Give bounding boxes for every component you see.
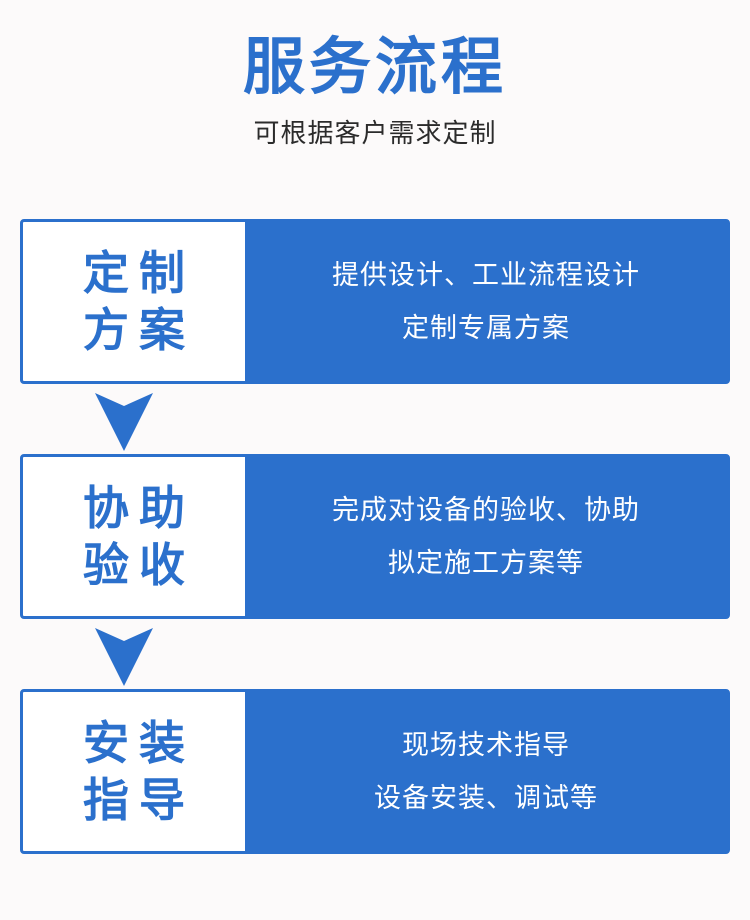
flow-step-2-body-line-2: 拟定施工方案等 — [388, 550, 584, 577]
flow-step-1-badge: 定制 方案 — [23, 222, 245, 381]
flow-step-3-body: 现场技术指导 设备安装、调试等 — [245, 692, 727, 851]
flow-connector-2 — [20, 619, 730, 689]
flow-step-3-badge-line-1: 安装 — [73, 715, 195, 771]
flow-step-1-body-line-1: 提供设计、工业流程设计 — [332, 262, 640, 289]
flow-step-2-badge: 协助 验收 — [23, 457, 245, 616]
flow-step-3-body-line-1: 现场技术指导 — [402, 732, 570, 759]
flow-step-3-badge-line-2: 指导 — [73, 772, 195, 828]
flow-step-2-body-line-1: 完成对设备的验收、协助 — [332, 497, 640, 524]
flow-connector-1 — [20, 384, 730, 454]
flow-step-1-body-line-2: 定制专属方案 — [402, 315, 570, 342]
page-title: 服务流程 — [0, 34, 750, 99]
flow-step-1: 定制 方案 提供设计、工业流程设计 定制专属方案 — [20, 219, 730, 384]
flow-step-2-body: 完成对设备的验收、协助 拟定施工方案等 — [245, 457, 727, 616]
flow-step-1-badge-line-2: 方案 — [73, 302, 195, 358]
page-subtitle: 可根据客户需求定制 — [0, 113, 750, 150]
flow-step-3-body-line-2: 设备安装、调试等 — [374, 785, 598, 812]
flow-step-1-body: 提供设计、工业流程设计 定制专属方案 — [245, 222, 727, 381]
arrow-down-icon — [95, 393, 153, 451]
page-header: 服务流程 可根据客户需求定制 — [0, 0, 750, 150]
flow-step-2-badge-line-1: 协助 — [73, 480, 195, 536]
flow-step-2: 协助 验收 完成对设备的验收、协助 拟定施工方案等 — [20, 454, 730, 619]
flow-step-1-badge-line-1: 定制 — [73, 245, 195, 301]
service-process-flow: 定制 方案 提供设计、工业流程设计 定制专属方案 协助 验收 完成对设备的验收、… — [20, 219, 730, 854]
arrow-down-icon — [95, 628, 153, 686]
flow-step-3: 安装 指导 现场技术指导 设备安装、调试等 — [20, 689, 730, 854]
flow-step-3-badge: 安装 指导 — [23, 692, 245, 851]
flow-step-2-badge-line-2: 验收 — [73, 537, 195, 593]
